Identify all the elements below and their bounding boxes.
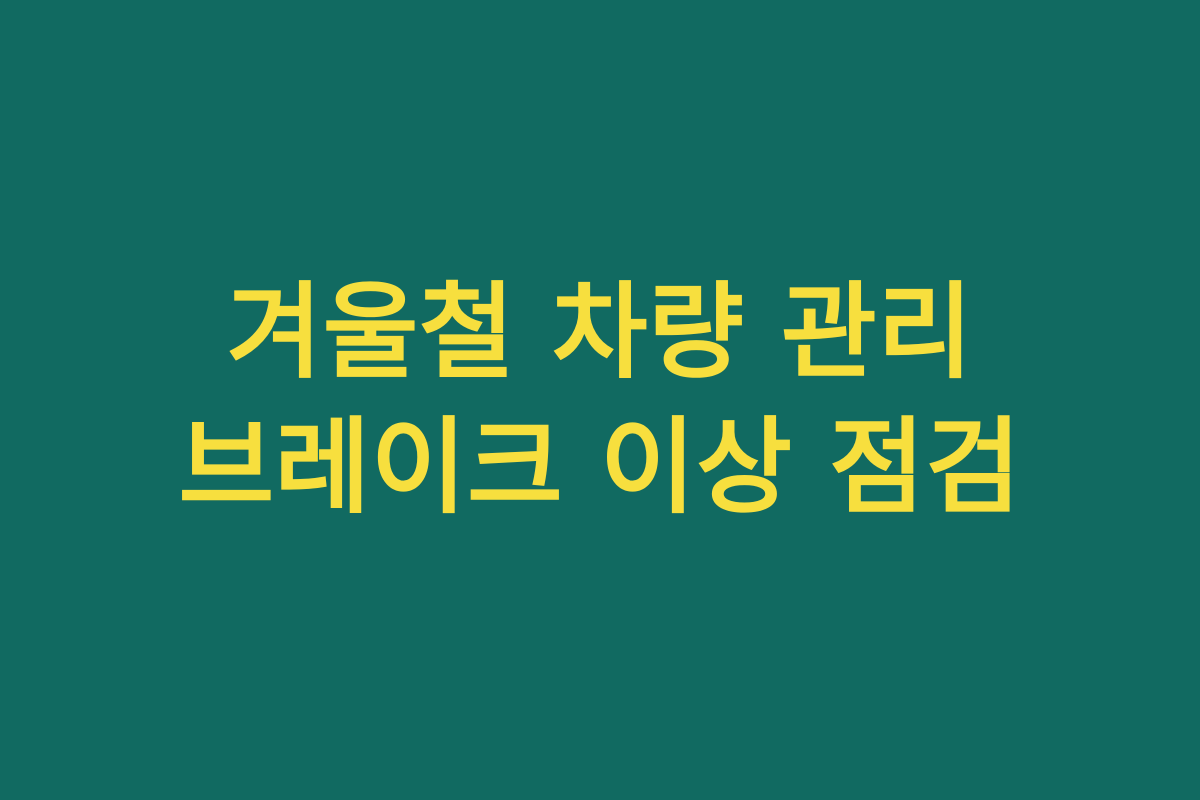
title-card: 겨울철 차량 관리 브레이크 이상 점검 [0,0,1200,800]
headline-text: 겨울철 차량 관리 브레이크 이상 점검 [80,265,1120,535]
